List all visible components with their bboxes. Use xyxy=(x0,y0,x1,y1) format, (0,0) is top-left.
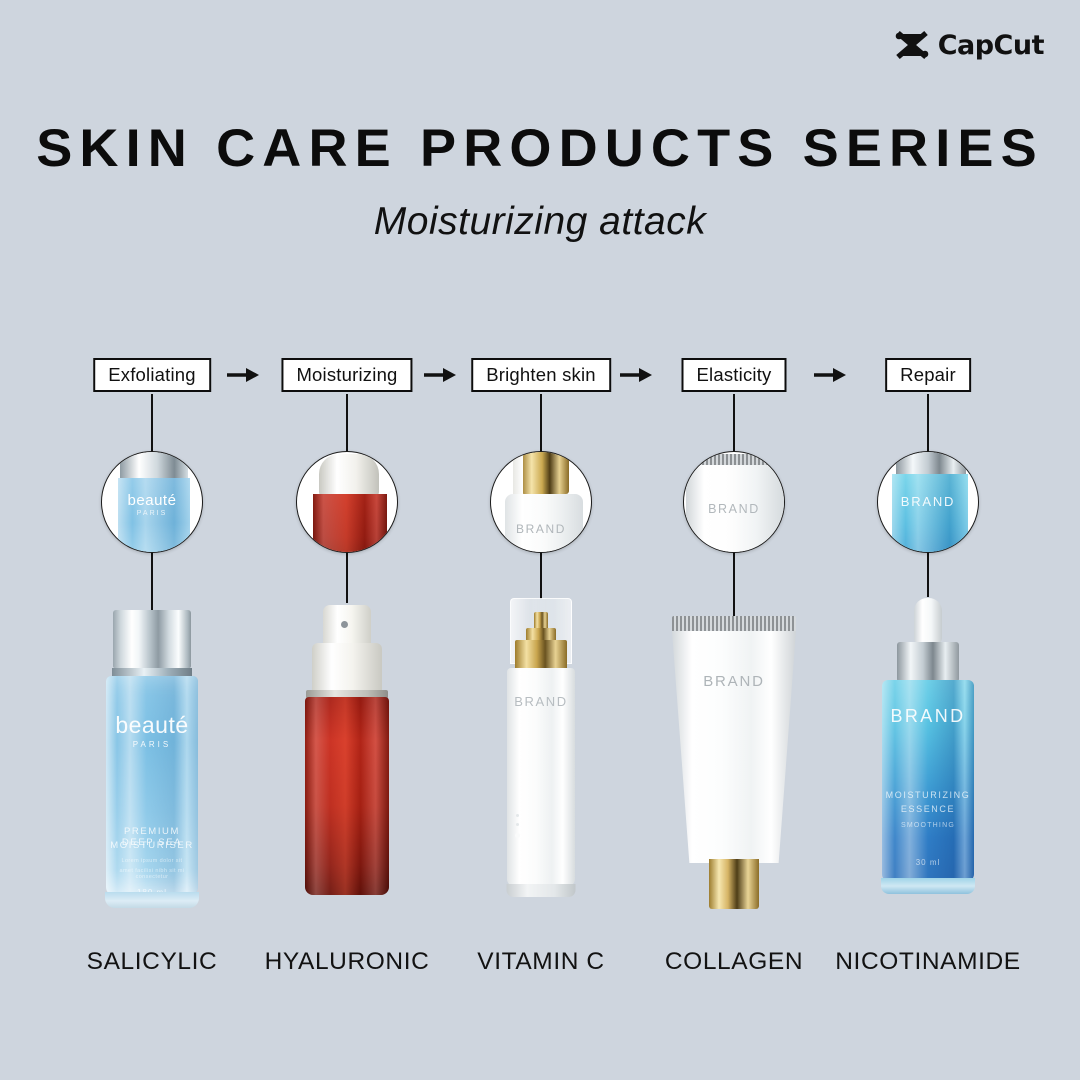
gold-pump-base xyxy=(515,640,567,670)
tube-crimp-seal xyxy=(672,616,796,631)
product-name-vitamin-c: VITAMIN C xyxy=(477,948,604,976)
spray-shoulder xyxy=(312,643,382,693)
product-sub-desc: SMOOTHING xyxy=(882,822,974,829)
bottle-base xyxy=(105,892,199,908)
callout-circle-vitamin-c: BRAND xyxy=(490,451,592,553)
product-brand-label: BRAND xyxy=(882,706,974,727)
flow-step-repair[interactable]: Repair xyxy=(885,358,971,392)
callout-brand-5: BRAND xyxy=(878,494,978,509)
capcut-logo-icon xyxy=(895,30,929,60)
callout-brand-4: BRAND xyxy=(684,502,784,516)
product-volume: 30 ml xyxy=(882,858,974,867)
spray-head xyxy=(323,605,371,645)
product-desc-line2: MOISTURISER xyxy=(106,840,198,851)
bottle-cap-silver xyxy=(113,610,191,668)
arrow-right-icon-2 xyxy=(423,366,457,384)
callout-circle-collagen: BRAND xyxy=(683,451,785,553)
bottle-base-white xyxy=(507,884,576,897)
product-desc-line2: ESSENCE xyxy=(882,804,974,814)
arrow-right-icon-1 xyxy=(226,366,260,384)
product-vitamin-c[interactable]: BRAND xyxy=(486,598,596,908)
tube-body: BRAND xyxy=(672,631,796,863)
connector-line-top-4 xyxy=(733,394,735,454)
serum-body: BRAND MOISTURIZING ESSENCE SMOOTHING 30 … xyxy=(882,680,974,882)
flow-step-exfoliating[interactable]: Exfoliating xyxy=(93,358,211,392)
bottle-body-red xyxy=(305,697,389,895)
arrow-right-icon-4 xyxy=(813,366,847,384)
product-brand-label: BRAND xyxy=(672,673,796,690)
product-nicotinamide[interactable]: BRAND MOISTURIZING ESSENCE SMOOTHING 30 … xyxy=(868,598,988,908)
flow-step-moisturizing[interactable]: Moisturizing xyxy=(281,358,412,392)
connector-line-top-1 xyxy=(151,394,153,454)
callout-circle-hyaluronic xyxy=(296,451,398,553)
product-brand-sub: PARIS xyxy=(106,740,198,749)
product-lorem-line2: amet facilisi nibh sit mi consectetur xyxy=(106,868,198,880)
bottle-body: beauté PARIS PREMIUM DEEP SEA MOISTURISE… xyxy=(106,676,198,896)
serum-base xyxy=(881,878,975,894)
product-collagen[interactable]: BRAND xyxy=(664,616,804,916)
flow-step-elasticity[interactable]: Elasticity xyxy=(682,358,787,392)
product-name-collagen: COLLAGEN xyxy=(665,948,803,976)
callout-brand-sub-1: PARIS xyxy=(102,510,202,517)
connector-line-top-5 xyxy=(927,394,929,454)
bottle-body-white: BRAND xyxy=(507,668,575,886)
flow-step-brighten-skin[interactable]: Brighten skin xyxy=(471,358,611,392)
connector-line-top-3 xyxy=(540,394,542,454)
product-salicylic[interactable]: beauté PARIS PREMIUM DEEP SEA MOISTURISE… xyxy=(92,610,212,910)
capcut-watermark: CapCut xyxy=(895,30,1044,60)
connector-line-bottom-5 xyxy=(927,551,929,597)
product-name-nicotinamide: NICOTINAMIDE xyxy=(835,948,1021,976)
callout-brand-1: beauté xyxy=(102,492,202,509)
dropper-bulb xyxy=(914,598,942,644)
product-lorem-line1: Lorem ipsum dolor sit xyxy=(106,858,198,864)
arrow-right-icon-3 xyxy=(619,366,653,384)
connector-line-bottom-3 xyxy=(540,551,542,599)
process-flow: Exfoliating Moisturizing Brighten skin E… xyxy=(0,358,1080,396)
connector-line-bottom-1 xyxy=(151,551,153,613)
callout-circle-nicotinamide: BRAND xyxy=(877,451,979,553)
connector-line-bottom-4 xyxy=(733,551,735,617)
product-hyaluronic[interactable] xyxy=(287,605,407,905)
connector-line-bottom-2 xyxy=(346,551,348,603)
page-subtitle: Moisturizing attack xyxy=(0,200,1080,244)
spray-nozzle-icon xyxy=(341,621,348,628)
dropper-collar xyxy=(897,642,959,682)
infographic-canvas: CapCut SKIN CARE PRODUCTS SERIES Moistur… xyxy=(0,0,1080,1080)
capcut-wordmark: CapCut xyxy=(938,32,1044,59)
callout-circle-salicylic: beauté PARIS xyxy=(101,451,203,553)
product-brand: beauté xyxy=(106,712,198,739)
callout-brand-3: BRAND xyxy=(491,522,591,536)
page-title: SKIN CARE PRODUCTS SERIES xyxy=(0,118,1080,179)
product-desc-line1: MOISTURIZING xyxy=(882,790,974,800)
connector-line-top-2 xyxy=(346,394,348,454)
tube-gold-cap xyxy=(709,859,759,909)
bottle-neck xyxy=(112,668,192,676)
product-name-salicylic: SALICYLIC xyxy=(87,948,218,976)
product-brand-label: BRAND xyxy=(507,694,575,709)
product-name-hyaluronic: HYALURONIC xyxy=(265,948,430,976)
